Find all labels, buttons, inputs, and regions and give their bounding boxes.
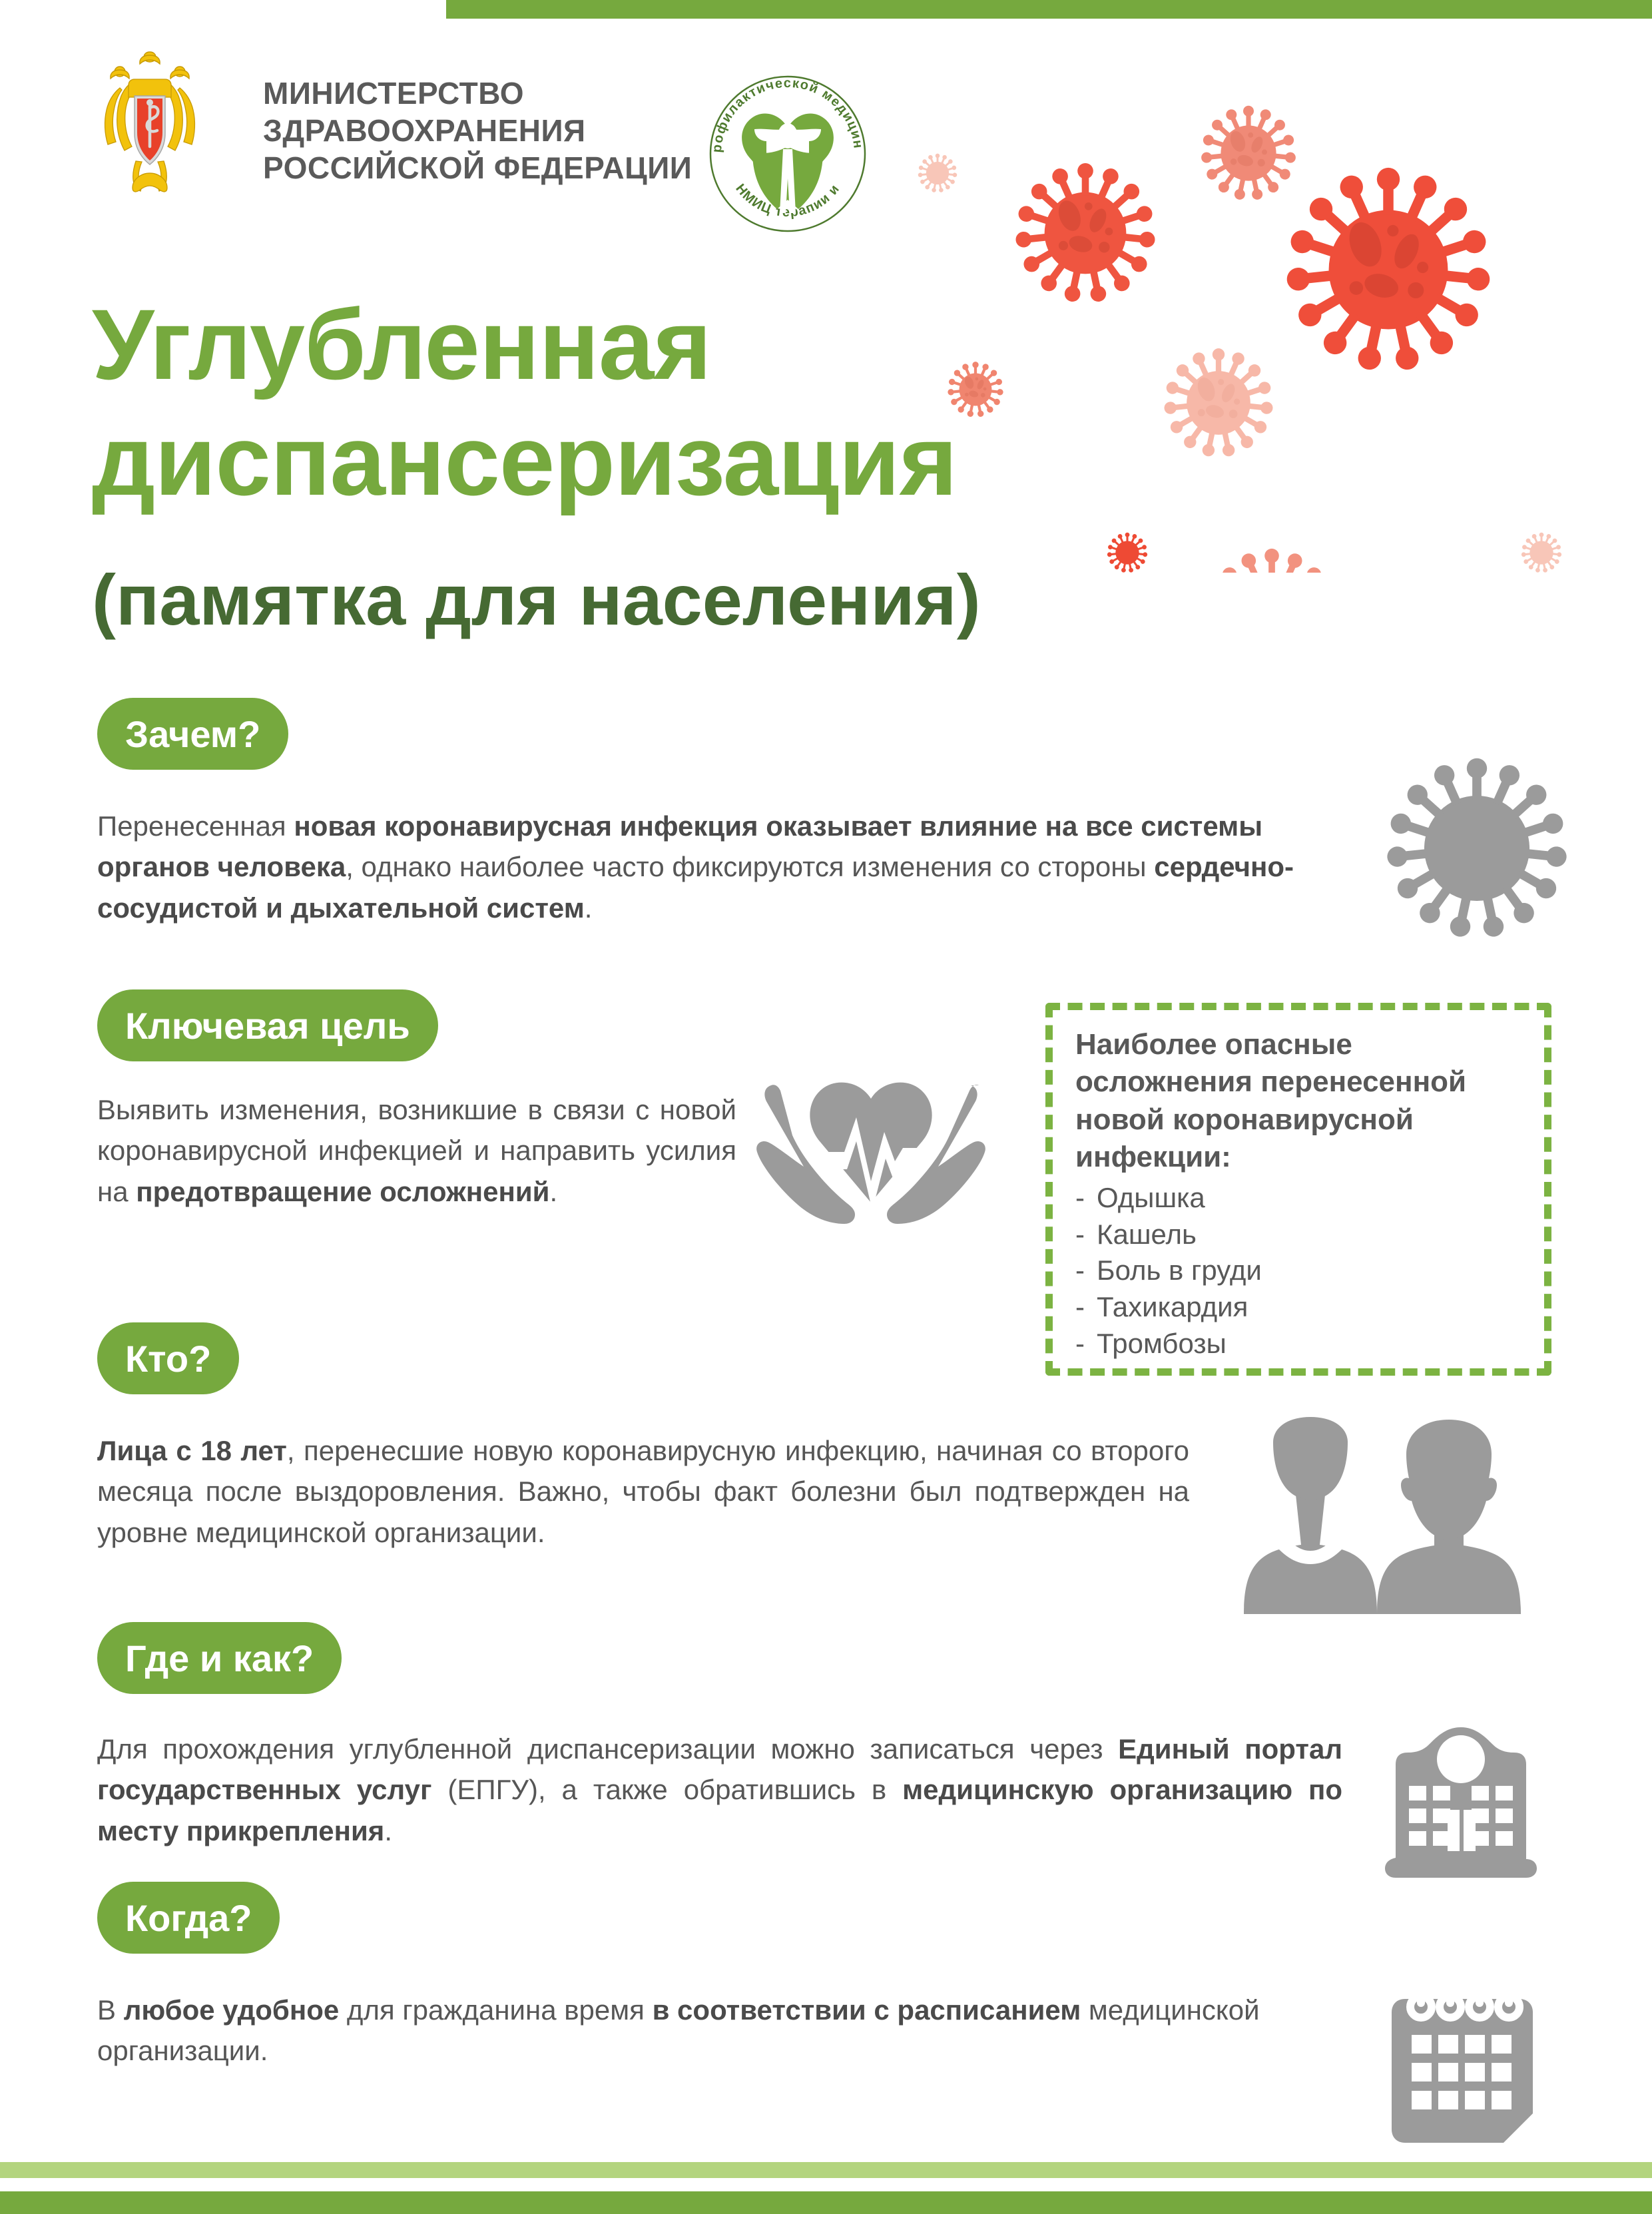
man-avatar-icon — [1377, 1420, 1521, 1614]
page-title-line-1: Углубленная — [92, 286, 1091, 402]
virus-pale-mid — [1164, 348, 1274, 457]
ministry-line-3: РОССИЙСКОЙ ФЕДЕРАЦИИ — [263, 149, 692, 186]
coronavirus-icon — [1386, 758, 1567, 939]
list-dash: - — [1075, 1217, 1085, 1253]
dangerous-complications-title: Наиболее опасные осложнения перенесенной… — [1075, 1026, 1527, 1176]
section-body-where-how: Для прохождения углубленной диспансериза… — [97, 1729, 1342, 1851]
list-item: -Одышка — [1075, 1180, 1527, 1217]
virus-salmon-bottom — [1207, 549, 1336, 573]
section-pill-who: Кто? — [97, 1322, 239, 1394]
list-item-label: Тахикардия — [1097, 1289, 1248, 1326]
heart-in-hands-icon — [751, 1051, 991, 1250]
ministry-line-1: МИНИСТЕРСТВО — [263, 75, 692, 112]
list-item: -Кашель — [1075, 1217, 1527, 1253]
nmic-logo-icon: профилактической медицины НМИЦ терапии и — [700, 67, 875, 241]
list-item-label: Тромбозы — [1097, 1326, 1227, 1362]
section-pill-key-goal: Ключевая цель — [97, 989, 438, 1061]
list-item-label: Одышка — [1097, 1180, 1205, 1217]
virus-tiny-topleft — [918, 154, 957, 193]
section-pill-where-how: Где и как? — [97, 1622, 342, 1694]
list-item: -Тахикардия — [1075, 1289, 1527, 1326]
russian-coat-of-arms-icon — [93, 49, 206, 192]
woman-avatar-icon — [1244, 1417, 1377, 1614]
top-accent-bar — [446, 0, 1652, 19]
section-pill-zachem: Зачем? — [97, 698, 288, 770]
bottom-dark-accent-bar — [0, 2191, 1652, 2214]
bottom-light-accent-bar — [0, 2162, 1652, 2178]
page-title-line-2: диспансеризация — [92, 402, 1091, 518]
virus-tiny-right — [1521, 533, 1562, 573]
dangerous-complications-list: -Одышка -Кашель -Боль в груди -Тахикарди… — [1075, 1180, 1527, 1362]
page-subtitle: (памятка для населения) — [92, 561, 1091, 640]
list-dash: - — [1075, 1180, 1085, 1217]
ministry-name: МИНИСТЕРСТВО ЗДРАВООХРАНЕНИЯ РОССИЙСКОЙ … — [263, 75, 692, 186]
virus-salmon-top — [1201, 106, 1296, 201]
hospital-building-icon — [1372, 1715, 1550, 1894]
list-dash: - — [1075, 1326, 1085, 1362]
virus-large — [1286, 168, 1491, 372]
section-body-key-goal: Выявить изменения, возникшие в связи с н… — [97, 1089, 736, 1212]
list-item-label: Кашель — [1097, 1217, 1197, 1253]
virus-medium-left — [1015, 163, 1155, 303]
section-body-who: Лица с 18 лет, перенесшие новую коронави… — [97, 1430, 1189, 1553]
list-dash: - — [1075, 1252, 1085, 1289]
section-body-zachem: Перенесенная новая коронавирусная инфекц… — [97, 806, 1342, 928]
poster-page: МИНИСТЕРСТВО ЗДРАВООХРАНЕНИЯ РОССИЙСКОЙ … — [0, 0, 1652, 2214]
list-item: -Боль в груди — [1075, 1252, 1527, 1289]
virus-tiny-center — [1107, 533, 1148, 573]
section-pill-when: Когда? — [97, 1882, 280, 1954]
two-people-icon — [1204, 1414, 1523, 1621]
calendar-icon — [1373, 1970, 1551, 2155]
dangerous-complications-box: Наиболее опасные осложнения перенесенной… — [1045, 1003, 1551, 1376]
list-dash: - — [1075, 1289, 1085, 1326]
page-title: Углубленная диспансеризация — [92, 286, 1091, 518]
list-item: -Тромбозы — [1075, 1326, 1527, 1362]
list-item-label: Боль в груди — [1097, 1252, 1262, 1289]
section-body-when: В любое удобное для гражданина время в с… — [97, 1990, 1349, 2072]
ministry-line-2: ЗДРАВООХРАНЕНИЯ — [263, 112, 692, 149]
